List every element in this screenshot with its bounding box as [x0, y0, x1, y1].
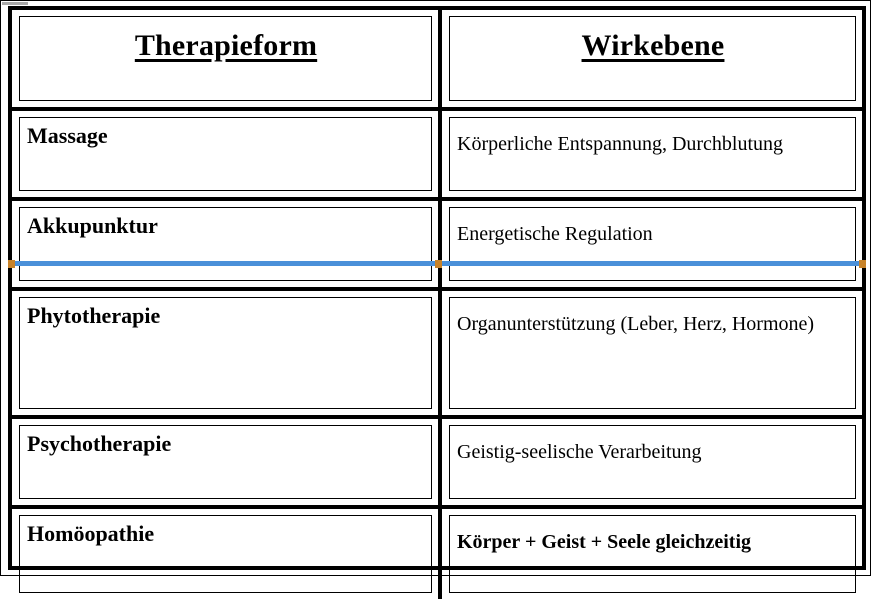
- cell-therapy-homoeopathie[interactable]: Homöopathie: [12, 509, 442, 599]
- row-resize-handle-middle[interactable]: [435, 260, 442, 268]
- row-resize-handle-left[interactable]: [8, 260, 15, 268]
- cell-therapy-phytotherapie[interactable]: Phytotherapie: [12, 291, 442, 415]
- effect-description: Körper + Geist + Seele gleichzeitig: [457, 531, 751, 553]
- cell-effect-psychotherapie[interactable]: Geistig-seelische Verarbeitung: [442, 419, 862, 505]
- table-row[interactable]: Massage Körperliche Entspannung, Durchbl…: [12, 111, 862, 201]
- effect-description: Geistig-seelische Verarbeitung: [457, 441, 702, 463]
- row-resize-handle-right[interactable]: [859, 260, 866, 268]
- page-frame: Therapieform Wirkebene Massage Körperlic…: [0, 0, 871, 576]
- cell-therapy-psychotherapie[interactable]: Psychotherapie: [12, 419, 442, 505]
- therapy-name: Akkupunktur: [27, 213, 158, 238]
- effect-description: Organunterstützung (Leber, Herz, Hormone…: [457, 313, 814, 335]
- cell-effect-akkupunktur[interactable]: Energetische Regulation: [442, 201, 862, 287]
- table-row[interactable]: Homöopathie Körper + Geist + Seele gleic…: [12, 509, 862, 599]
- table-row[interactable]: Psychotherapie Geistig-seelische Verarbe…: [12, 419, 862, 509]
- therapy-name: Massage: [27, 123, 108, 148]
- cell-therapy-massage[interactable]: Massage: [12, 111, 442, 197]
- cell-effect-homoeopathie[interactable]: Körper + Geist + Seele gleichzeitig: [442, 509, 862, 599]
- effect-description: Körperliche Entspannung, Durchblutung: [457, 133, 783, 155]
- therapy-name: Homöopathie: [27, 521, 154, 546]
- cell-therapy-akkupunktur[interactable]: Akkupunktur: [12, 201, 442, 287]
- table-row[interactable]: Akkupunktur Energetische Regulation: [12, 201, 862, 291]
- cell-effect-phytotherapie[interactable]: Organunterstützung (Leber, Herz, Hormone…: [442, 291, 862, 415]
- table-header-row: Therapieform Wirkebene: [12, 10, 862, 111]
- therapy-name: Phytotherapie: [27, 303, 160, 328]
- window-chrome-stub: [2, 2, 28, 5]
- column-header-wirkebene: Wirkebene: [582, 28, 725, 63]
- effect-description: Energetische Regulation: [457, 223, 653, 245]
- table-row[interactable]: Phytotherapie Organunterstützung (Leber,…: [12, 291, 862, 419]
- column-header-therapieform: Therapieform: [135, 28, 317, 63]
- header-cell-wirkebene[interactable]: Wirkebene: [442, 10, 862, 107]
- cell-effect-massage[interactable]: Körperliche Entspannung, Durchblutung: [442, 111, 862, 197]
- therapy-table: Therapieform Wirkebene Massage Körperlic…: [8, 6, 866, 570]
- row-resize-indicator[interactable]: [8, 260, 866, 268]
- header-cell-therapieform[interactable]: Therapieform: [12, 10, 442, 107]
- therapy-name: Psychotherapie: [27, 431, 171, 456]
